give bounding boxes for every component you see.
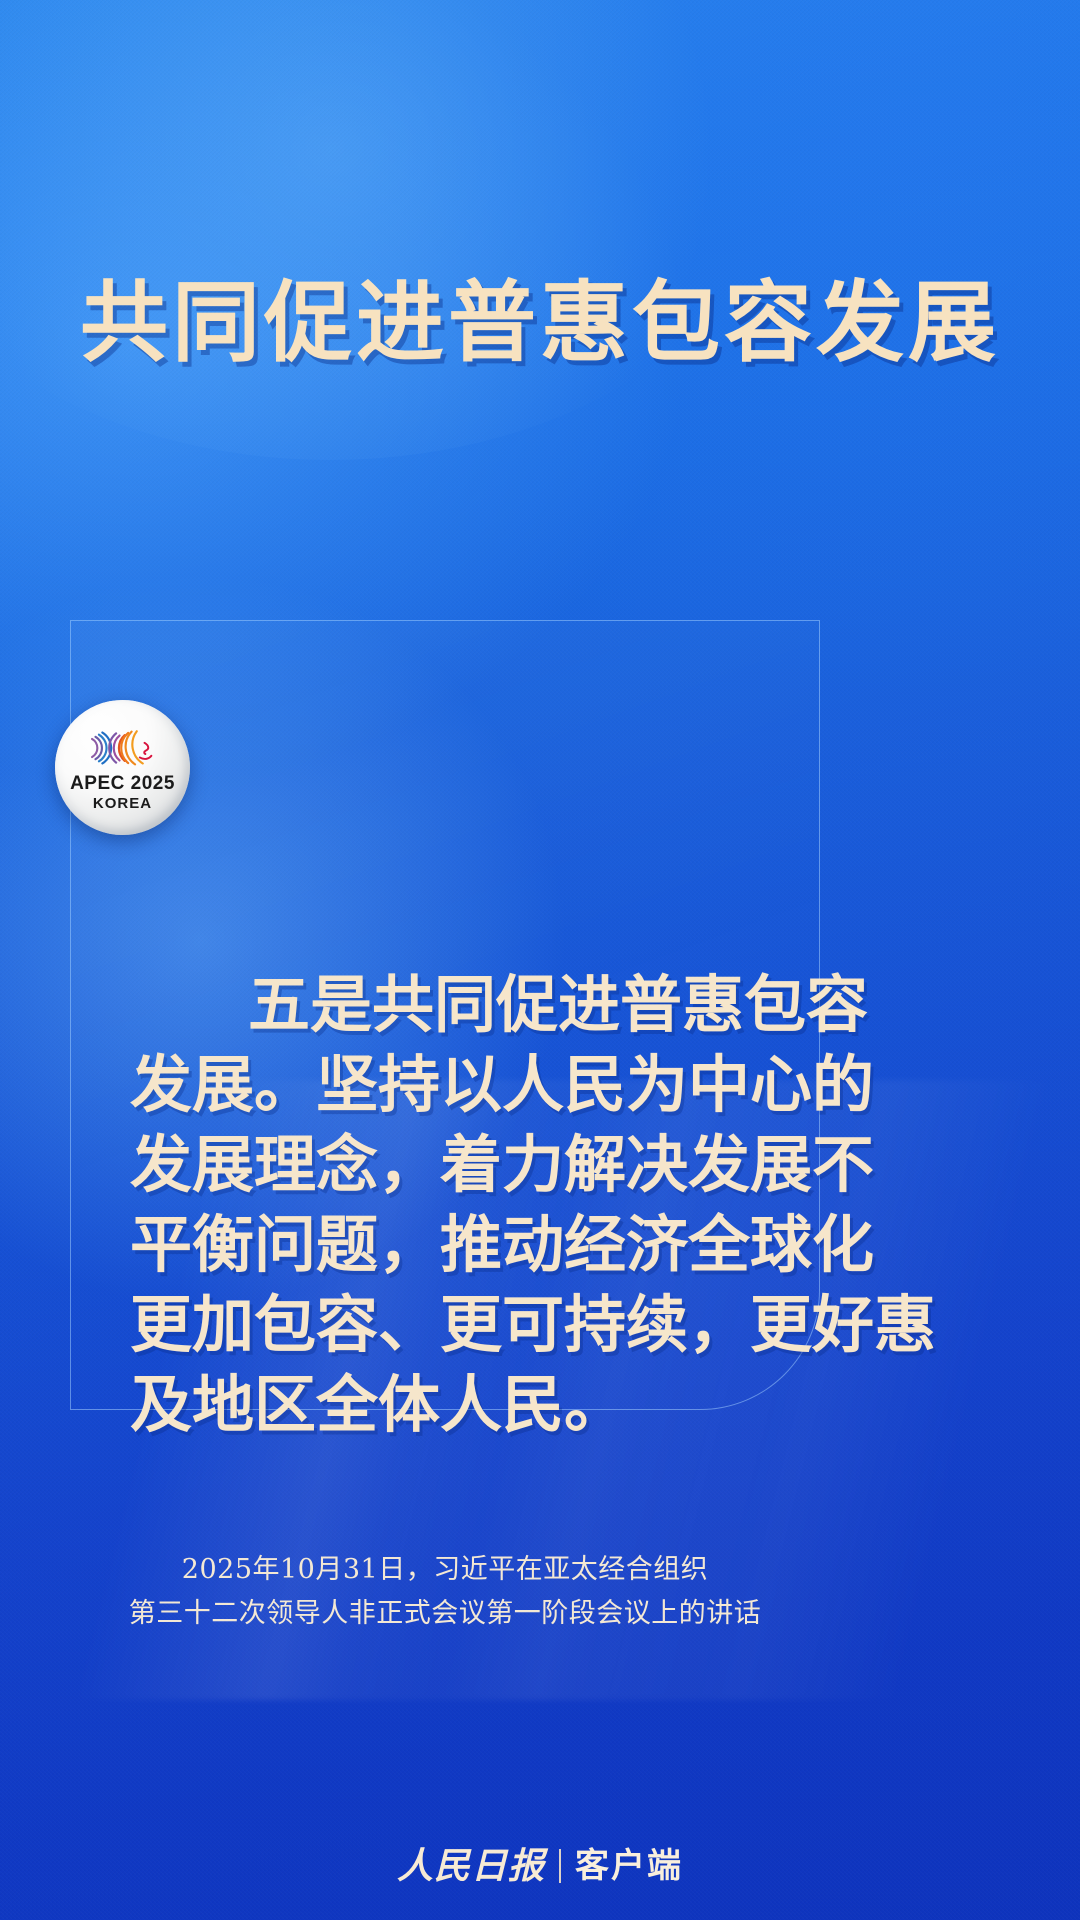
page-title: 共同促进普惠包容发展 (0, 252, 1080, 379)
brand-name: 人民日报 (397, 1848, 545, 1884)
quote-line: 发展。坚持以人民为中心的 (130, 1045, 770, 1125)
apec-badge-host: KOREA (93, 796, 152, 811)
quote-attribution: 2025年10月31日，习近平在亚太经合组织 第三十二次领导人非正式会议第一阶段… (70, 1548, 820, 1636)
quote-line: 发展理念，着力解决发展不 (130, 1125, 770, 1205)
quote-line: 五是共同促进普惠包容 (130, 965, 770, 1045)
attribution-line: 第三十二次领导人非正式会议第一阶段会议上的讲话 (70, 1592, 820, 1636)
brand-product: 客户端 (575, 1849, 683, 1883)
poster-canvas: 共同促进普惠包容发展 APE (0, 0, 1080, 1920)
top-glow-decoration (0, 0, 780, 460)
attribution-line: 2025年10月31日，习近平在亚太经合组织 (70, 1548, 820, 1592)
apec-face-arcs-icon (80, 726, 166, 770)
quote-line: 更加包容、更可持续，更好惠 (130, 1285, 770, 1365)
apec-badge-title: APEC 2025 (70, 774, 175, 793)
brand-divider (559, 1849, 561, 1883)
quote-line: 及地区全体人民。 (130, 1365, 770, 1445)
quote-body: 五是共同促进普惠包容 发展。坚持以人民为中心的 发展理念，着力解决发展不 平衡问… (130, 965, 770, 1445)
apec-logo-badge: APEC 2025 KOREA (55, 700, 190, 835)
quote-line: 平衡问题，推动经济全球化 (130, 1205, 770, 1285)
footer-brand: 人民日报 客户端 (0, 1848, 1080, 1884)
